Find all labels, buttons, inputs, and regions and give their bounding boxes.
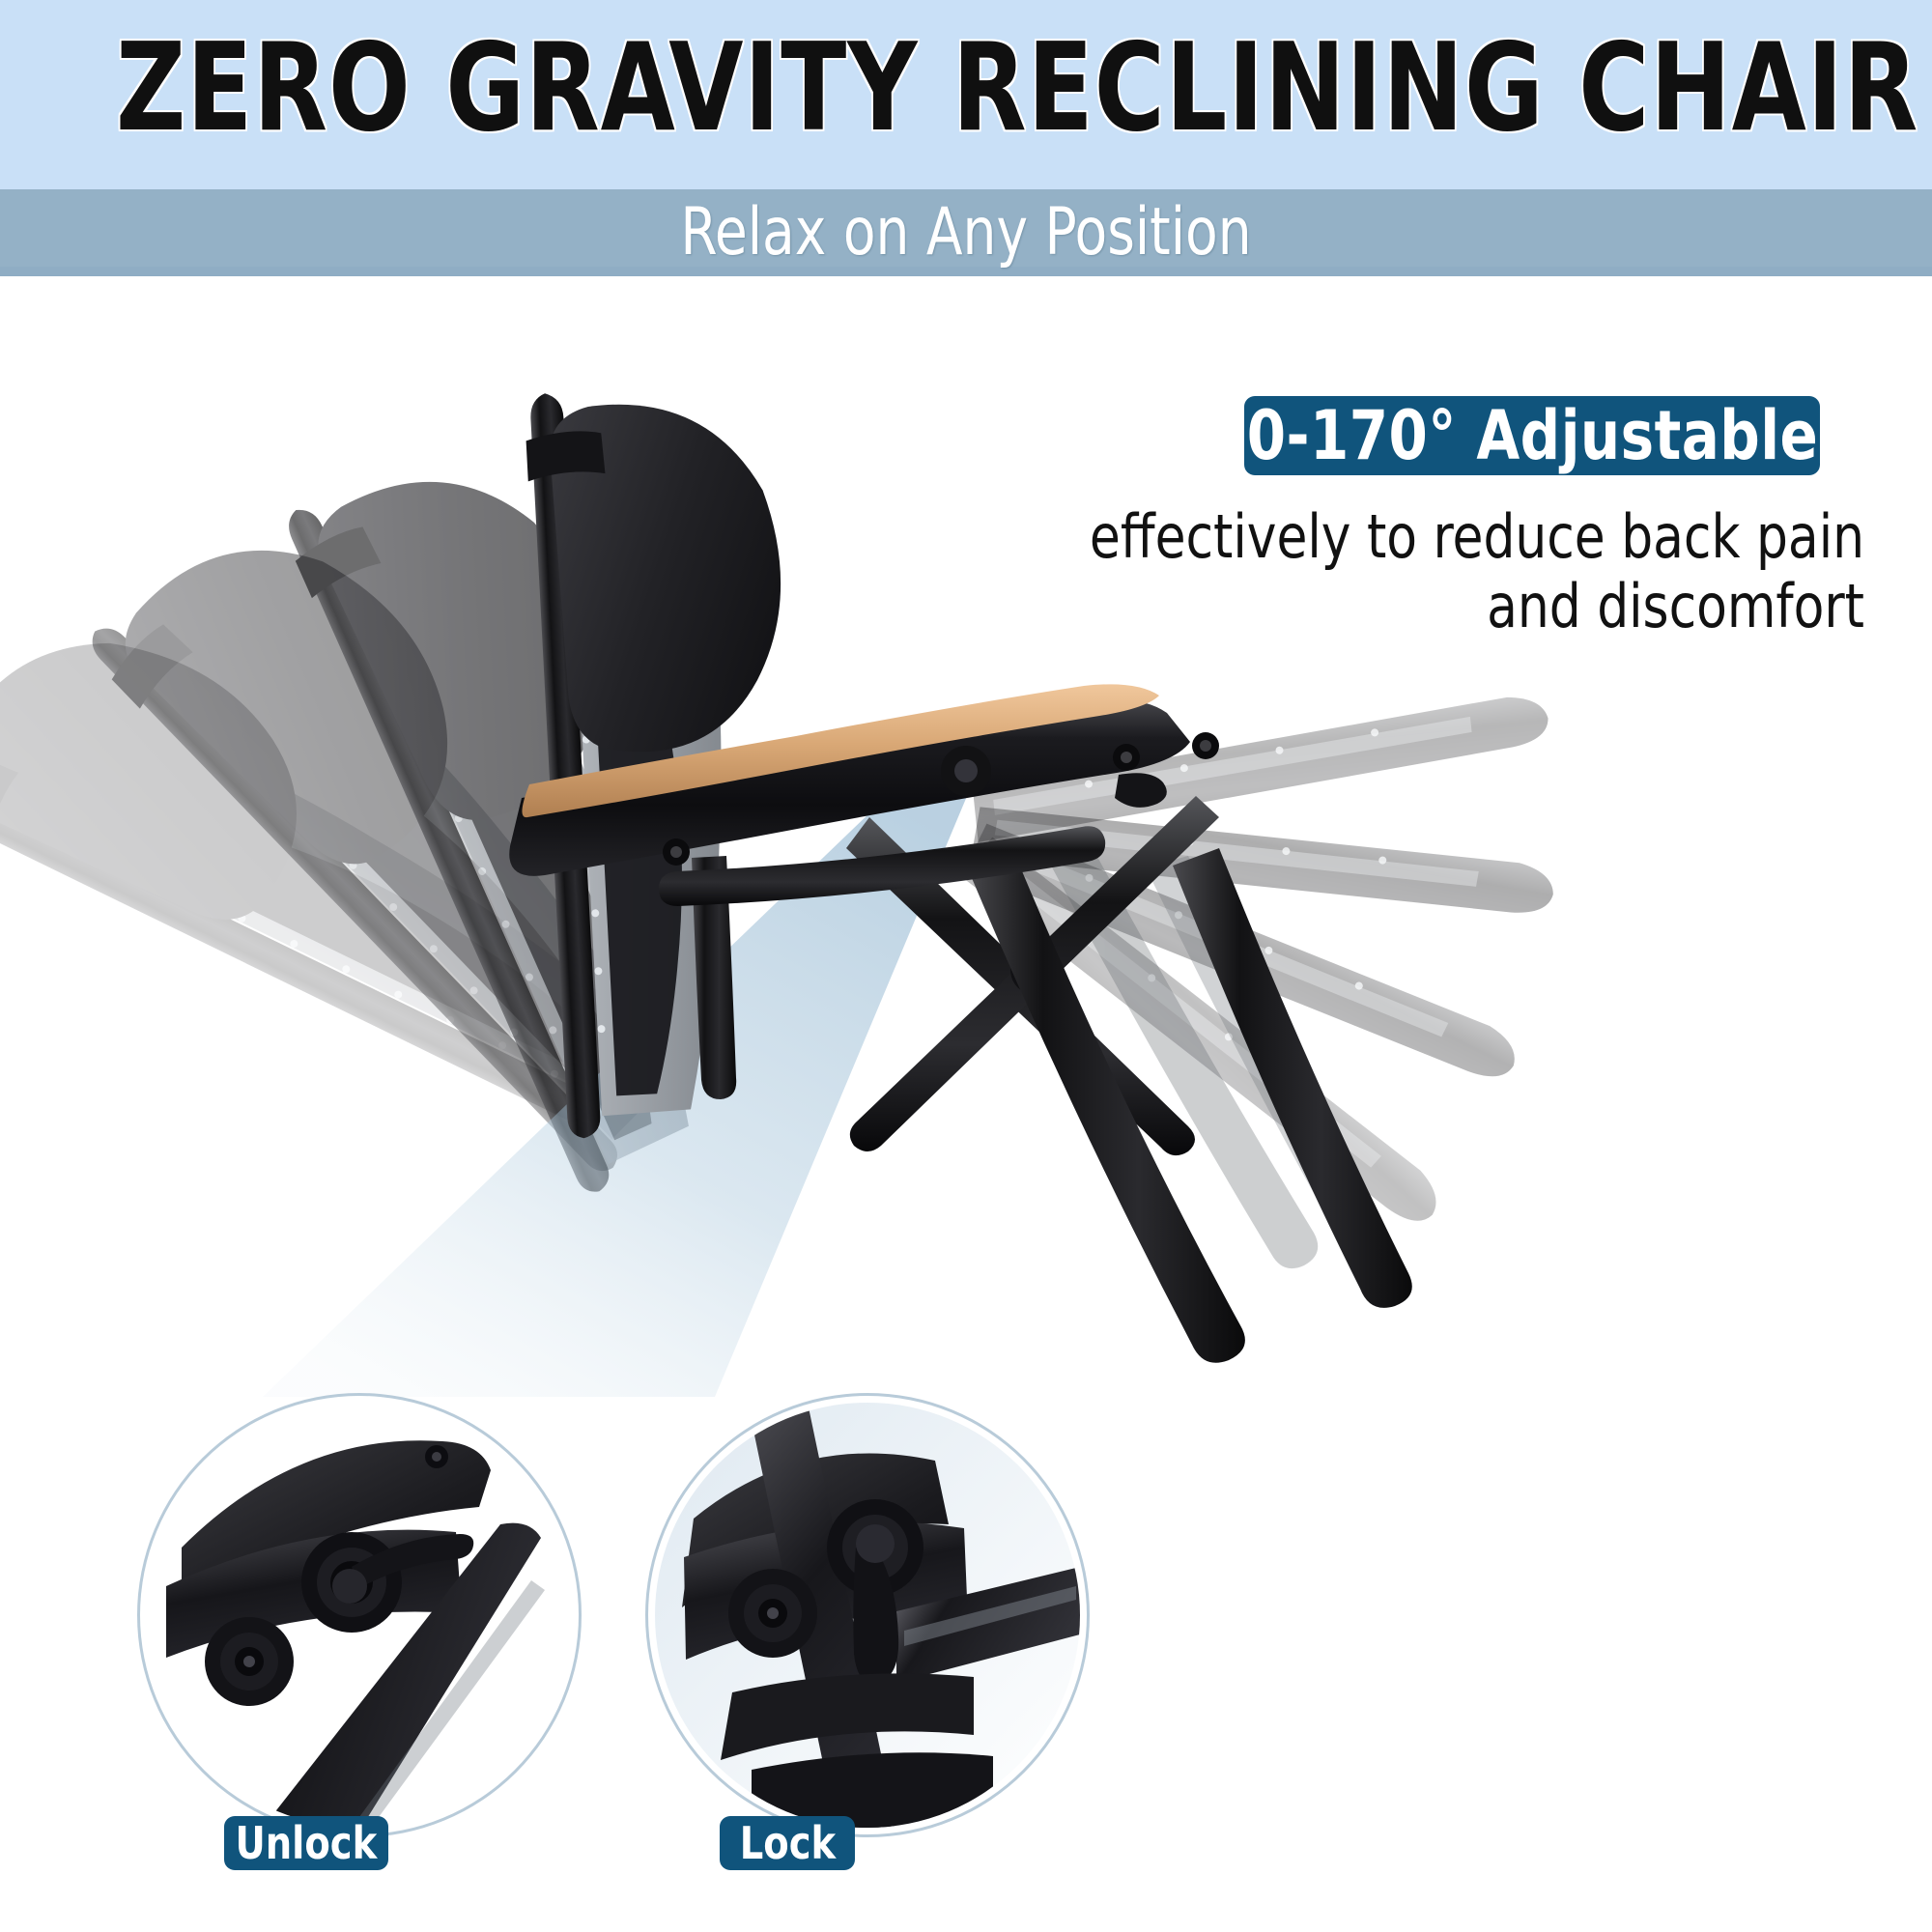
callout-inset-lock [655,1403,1080,1828]
adjustable-range-badge: 0-170° Adjustable [1244,396,1820,475]
callout-label-unlock: Unlock [224,1816,388,1870]
feature-description: effectively to reduce back pain and disc… [869,502,1864,641]
product-marketing-banner: ZERO GRAVITY RECLINING CHAIR Relax on An… [0,0,1932,1932]
badge-label: 0-170° Adjustable [1246,402,1818,469]
callout-label-lock-text: Lock [739,1821,835,1865]
feature-description-line1: effectively to reduce back pain [939,502,1864,572]
callout-label-lock: Lock [720,1816,855,1870]
page-title: ZERO GRAVITY RECLINING CHAIR [116,25,1816,151]
callout-label-unlock-text: Unlock [236,1821,378,1865]
page-subtitle: Relax on Any Position [97,192,1835,273]
callout-inset-unlock [147,1403,572,1828]
feature-description-line2: and discomfort [939,572,1864,641]
